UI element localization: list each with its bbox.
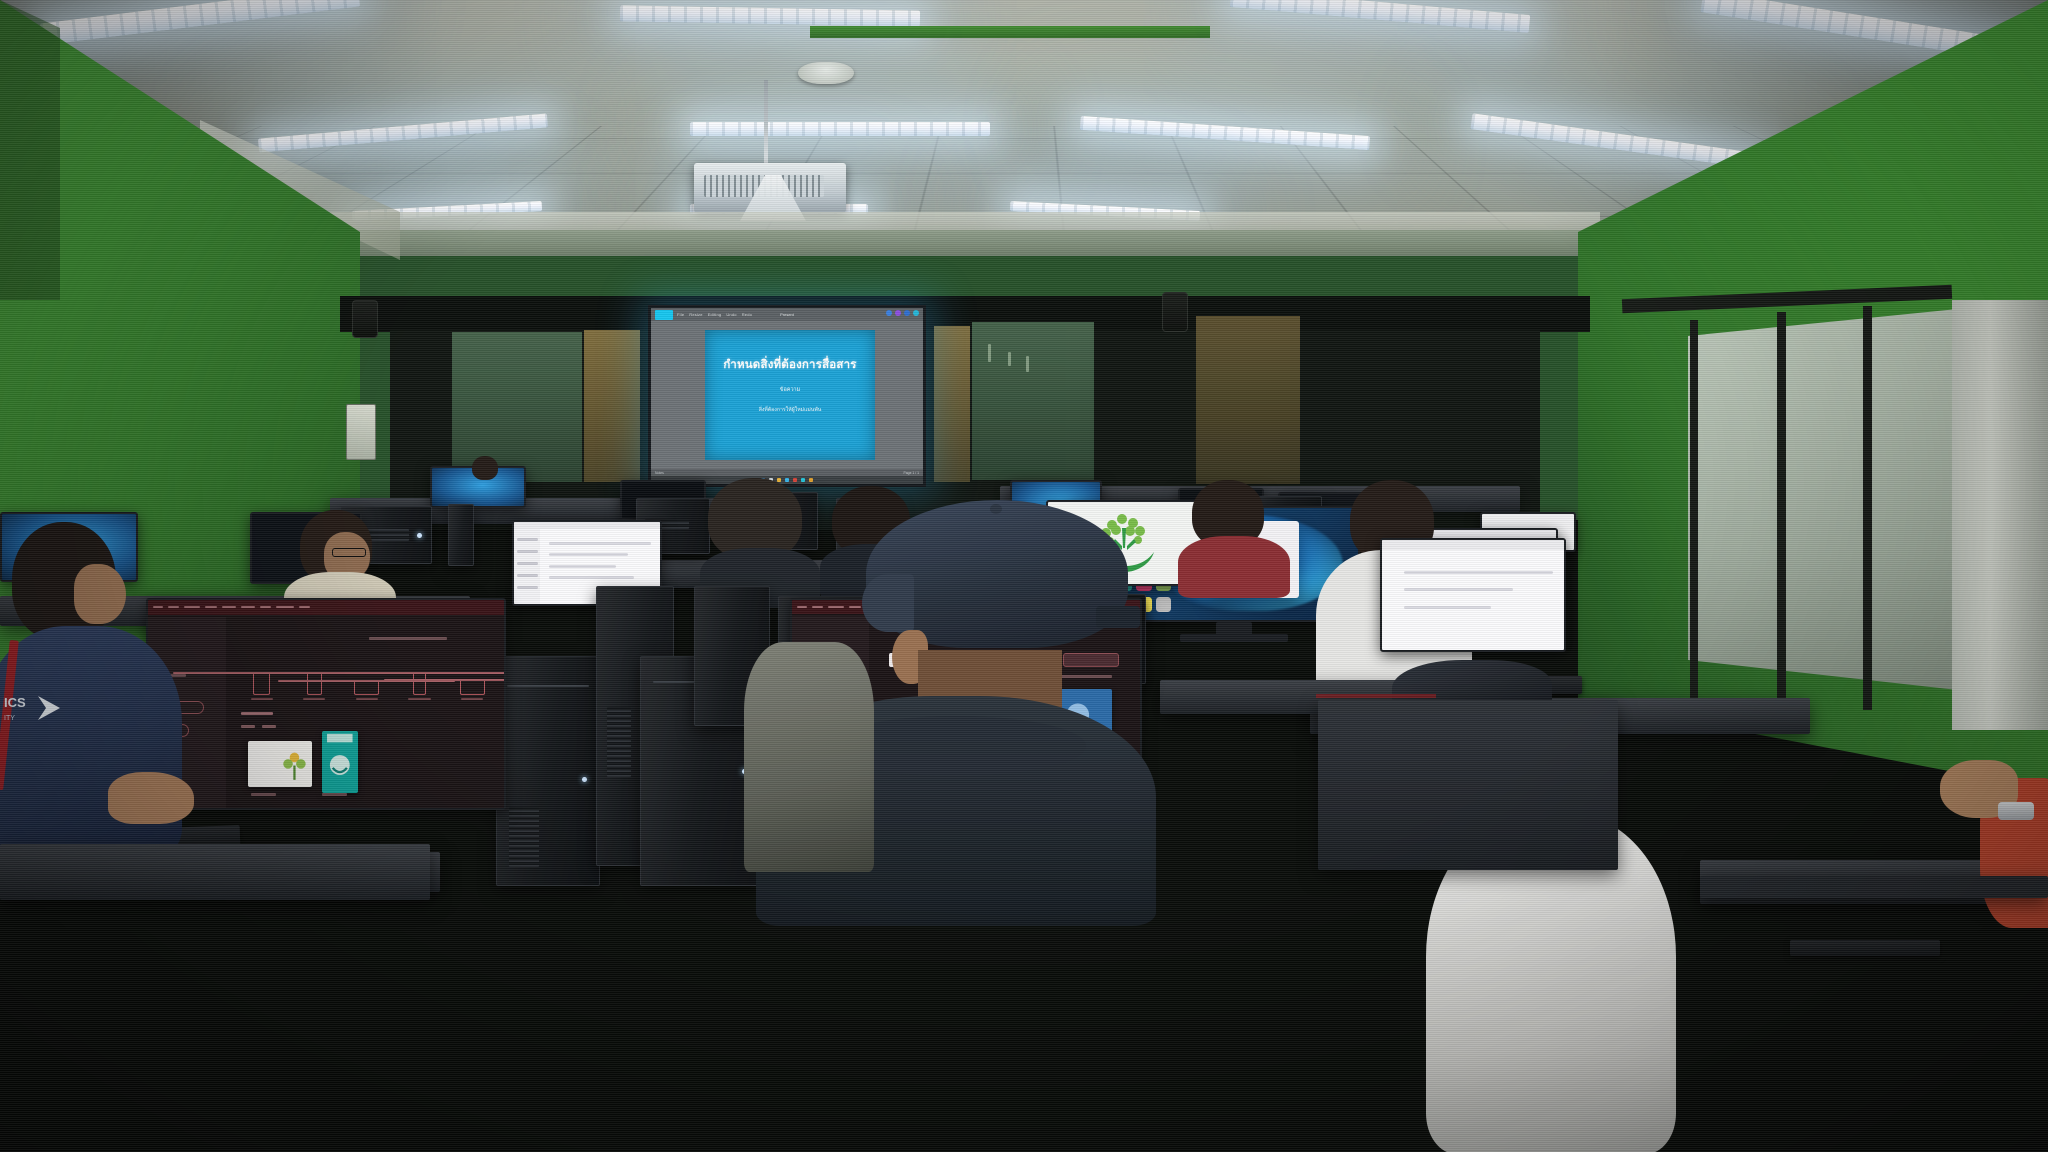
app-title-bar (514, 522, 660, 529)
glasses-icon (332, 548, 366, 557)
torso (744, 642, 874, 872)
glass-mullion-3 (1863, 306, 1872, 710)
pc-tower-mid-2 (448, 504, 474, 566)
recent-tab-grid[interactable] (262, 725, 276, 728)
tower-vent (509, 807, 539, 867)
recent-file-caption-1 (251, 793, 276, 796)
wood-panel-far-right (1196, 316, 1300, 484)
content-row (549, 553, 628, 556)
screen-foreground-adobe (148, 600, 504, 808)
forearm (108, 772, 194, 824)
menu-item-type[interactable] (205, 606, 217, 608)
content-row (1404, 606, 1491, 609)
sidebar-row[interactable] (517, 574, 538, 577)
board-mark-3 (1026, 356, 1029, 372)
desk-edge-accent (1316, 694, 1436, 698)
power-led-icon (582, 777, 587, 782)
ceiling-light-6 (690, 122, 990, 136)
left-wall-shadow (0, 0, 60, 300)
preset-print[interactable] (346, 680, 388, 700)
menu-item-object[interactable] (184, 606, 200, 608)
content-row (549, 565, 616, 568)
preset-art-icon (460, 679, 485, 695)
sidebar-row[interactable] (517, 538, 538, 541)
face (74, 564, 126, 624)
wood-panel-right (934, 326, 970, 482)
whiteboard-panel-right (972, 322, 1094, 480)
preset-web-icon (253, 672, 270, 695)
content-row (549, 576, 634, 579)
board-mark-2 (1008, 352, 1011, 366)
status-left[interactable]: Notes (655, 471, 664, 475)
menu-item-effect[interactable] (241, 606, 255, 608)
cap-button-icon (990, 504, 1002, 514)
svg-text:ICS: ICS (4, 695, 26, 710)
menu-item-view[interactable] (260, 606, 271, 608)
recent-view-tabs[interactable] (241, 725, 276, 728)
preset-mobile-icon (307, 672, 322, 695)
preset-film[interactable] (398, 672, 440, 700)
preset-sublabel (356, 698, 378, 700)
slide-title: กำหนดสิ่งที่ต้องการสื่อสาร (723, 356, 856, 374)
share-icon[interactable] (886, 310, 892, 316)
menu-item-select[interactable] (222, 606, 236, 608)
preset-sublabel (461, 698, 483, 700)
slide-subtitle: ข้อความ (780, 386, 801, 394)
structural-column (1952, 300, 2048, 730)
pc-tower-front-1 (496, 656, 600, 886)
desk-right-shelf (1700, 876, 2048, 898)
app-bar-actions[interactable] (886, 310, 919, 316)
wall-speaker-left (352, 300, 378, 338)
preset-row[interactable] (241, 654, 494, 700)
wood-panel-left (584, 330, 640, 482)
monitor-base-win11 (1180, 634, 1288, 642)
projector-mount (764, 80, 768, 166)
head (472, 456, 498, 480)
adobe-menu-bar[interactable] (148, 600, 504, 615)
university-logo-icon: ICS ITY (4, 692, 62, 726)
recent-file-caption-2 (322, 793, 347, 796)
student-far-back (470, 456, 504, 486)
preset-film-icon (413, 672, 426, 695)
app-sidebar[interactable] (514, 529, 540, 604)
present-icon[interactable] (895, 310, 901, 316)
preset-sublabel (251, 698, 273, 700)
wall-speaker-right (1162, 292, 1188, 332)
sidebar-row[interactable] (517, 562, 538, 565)
presets-heading (369, 637, 447, 640)
projected-desktop: File Resize Editing Undo Redo Present กำ… (651, 308, 923, 484)
recent-file-thumb-poster[interactable] (322, 731, 358, 793)
torso (1178, 536, 1290, 598)
preset-label (331, 672, 506, 675)
preset-art[interactable] (451, 679, 493, 700)
poster-thumbnail-icon (322, 731, 358, 793)
monitor-foreground-adobe[interactable] (146, 598, 506, 810)
student-center-grey (744, 642, 874, 872)
slide-canvas[interactable]: กำหนดสิ่งที่ต้องการสื่อสาร ข้อความ สิ่งท… (705, 330, 875, 460)
preset-sublabel (303, 698, 325, 700)
menu-item-help[interactable] (299, 606, 310, 608)
ceiling-green-reflection (810, 26, 1210, 38)
content-row (549, 542, 651, 545)
desktop-icon[interactable] (1156, 597, 1171, 612)
desk-right-lower (1318, 700, 1618, 870)
student-left-polo: ICS ITY (0, 522, 180, 882)
shirt-logo: ICS ITY (4, 692, 62, 726)
status-right: Page 1 / 1 (904, 471, 919, 475)
student-right-back (1178, 480, 1288, 590)
wall-electrical-box (346, 404, 376, 460)
slide-status-bar: Notes Page 1 / 1 (651, 469, 923, 476)
preset-print-icon (354, 680, 379, 695)
sidebar-row[interactable] (517, 550, 538, 553)
monitor-right-foreground[interactable] (1380, 538, 1566, 652)
screen-right-foreground (1382, 540, 1564, 650)
recent-heading (241, 712, 273, 715)
content-row (1404, 588, 1513, 591)
account-icon[interactable] (904, 310, 910, 316)
glass-mullion-1 (1690, 320, 1698, 712)
content-row (1404, 571, 1553, 574)
tower-vent (607, 707, 631, 777)
app-title-bar (1382, 540, 1564, 550)
svg-text:ITY: ITY (4, 715, 15, 722)
keyboard-far-right[interactable] (1790, 940, 1940, 956)
preset-mobile[interactable] (293, 672, 335, 700)
preset-web[interactable] (241, 672, 283, 700)
cap-strap (1096, 606, 1140, 628)
smoke-detector-icon (798, 62, 854, 84)
recent-tab-list[interactable] (241, 725, 255, 728)
flower-thumbnail-icon (248, 741, 312, 787)
document-title: Present (651, 312, 923, 317)
canva-app-bar: File Resize Editing Undo Redo Present (651, 308, 923, 321)
sidebar-row[interactable] (517, 586, 538, 589)
more-icon[interactable] (913, 310, 919, 316)
preset-label (384, 679, 506, 682)
glass-mullion-2 (1777, 312, 1786, 710)
recent-file-thumb-template[interactable] (248, 741, 312, 787)
cap-brim (862, 574, 914, 632)
preset-sublabel (408, 698, 430, 700)
projection-screen: File Resize Editing Undo Redo Present กำ… (648, 305, 926, 487)
menu-item-window[interactable] (276, 606, 294, 608)
board-mark-1 (988, 344, 991, 362)
power-led-icon (417, 533, 422, 538)
slide-body-text: สิ่งที่ต้องการให้ผู้ใหม่แม่นพัน (759, 406, 822, 414)
desk-foreground-main (0, 844, 430, 900)
tower-detail (507, 685, 589, 687)
student-far-right-hand (1940, 750, 2048, 930)
wristwatch (1998, 802, 2034, 820)
classroom-scene: File Resize Editing Undo Redo Present กำ… (0, 0, 2048, 1152)
